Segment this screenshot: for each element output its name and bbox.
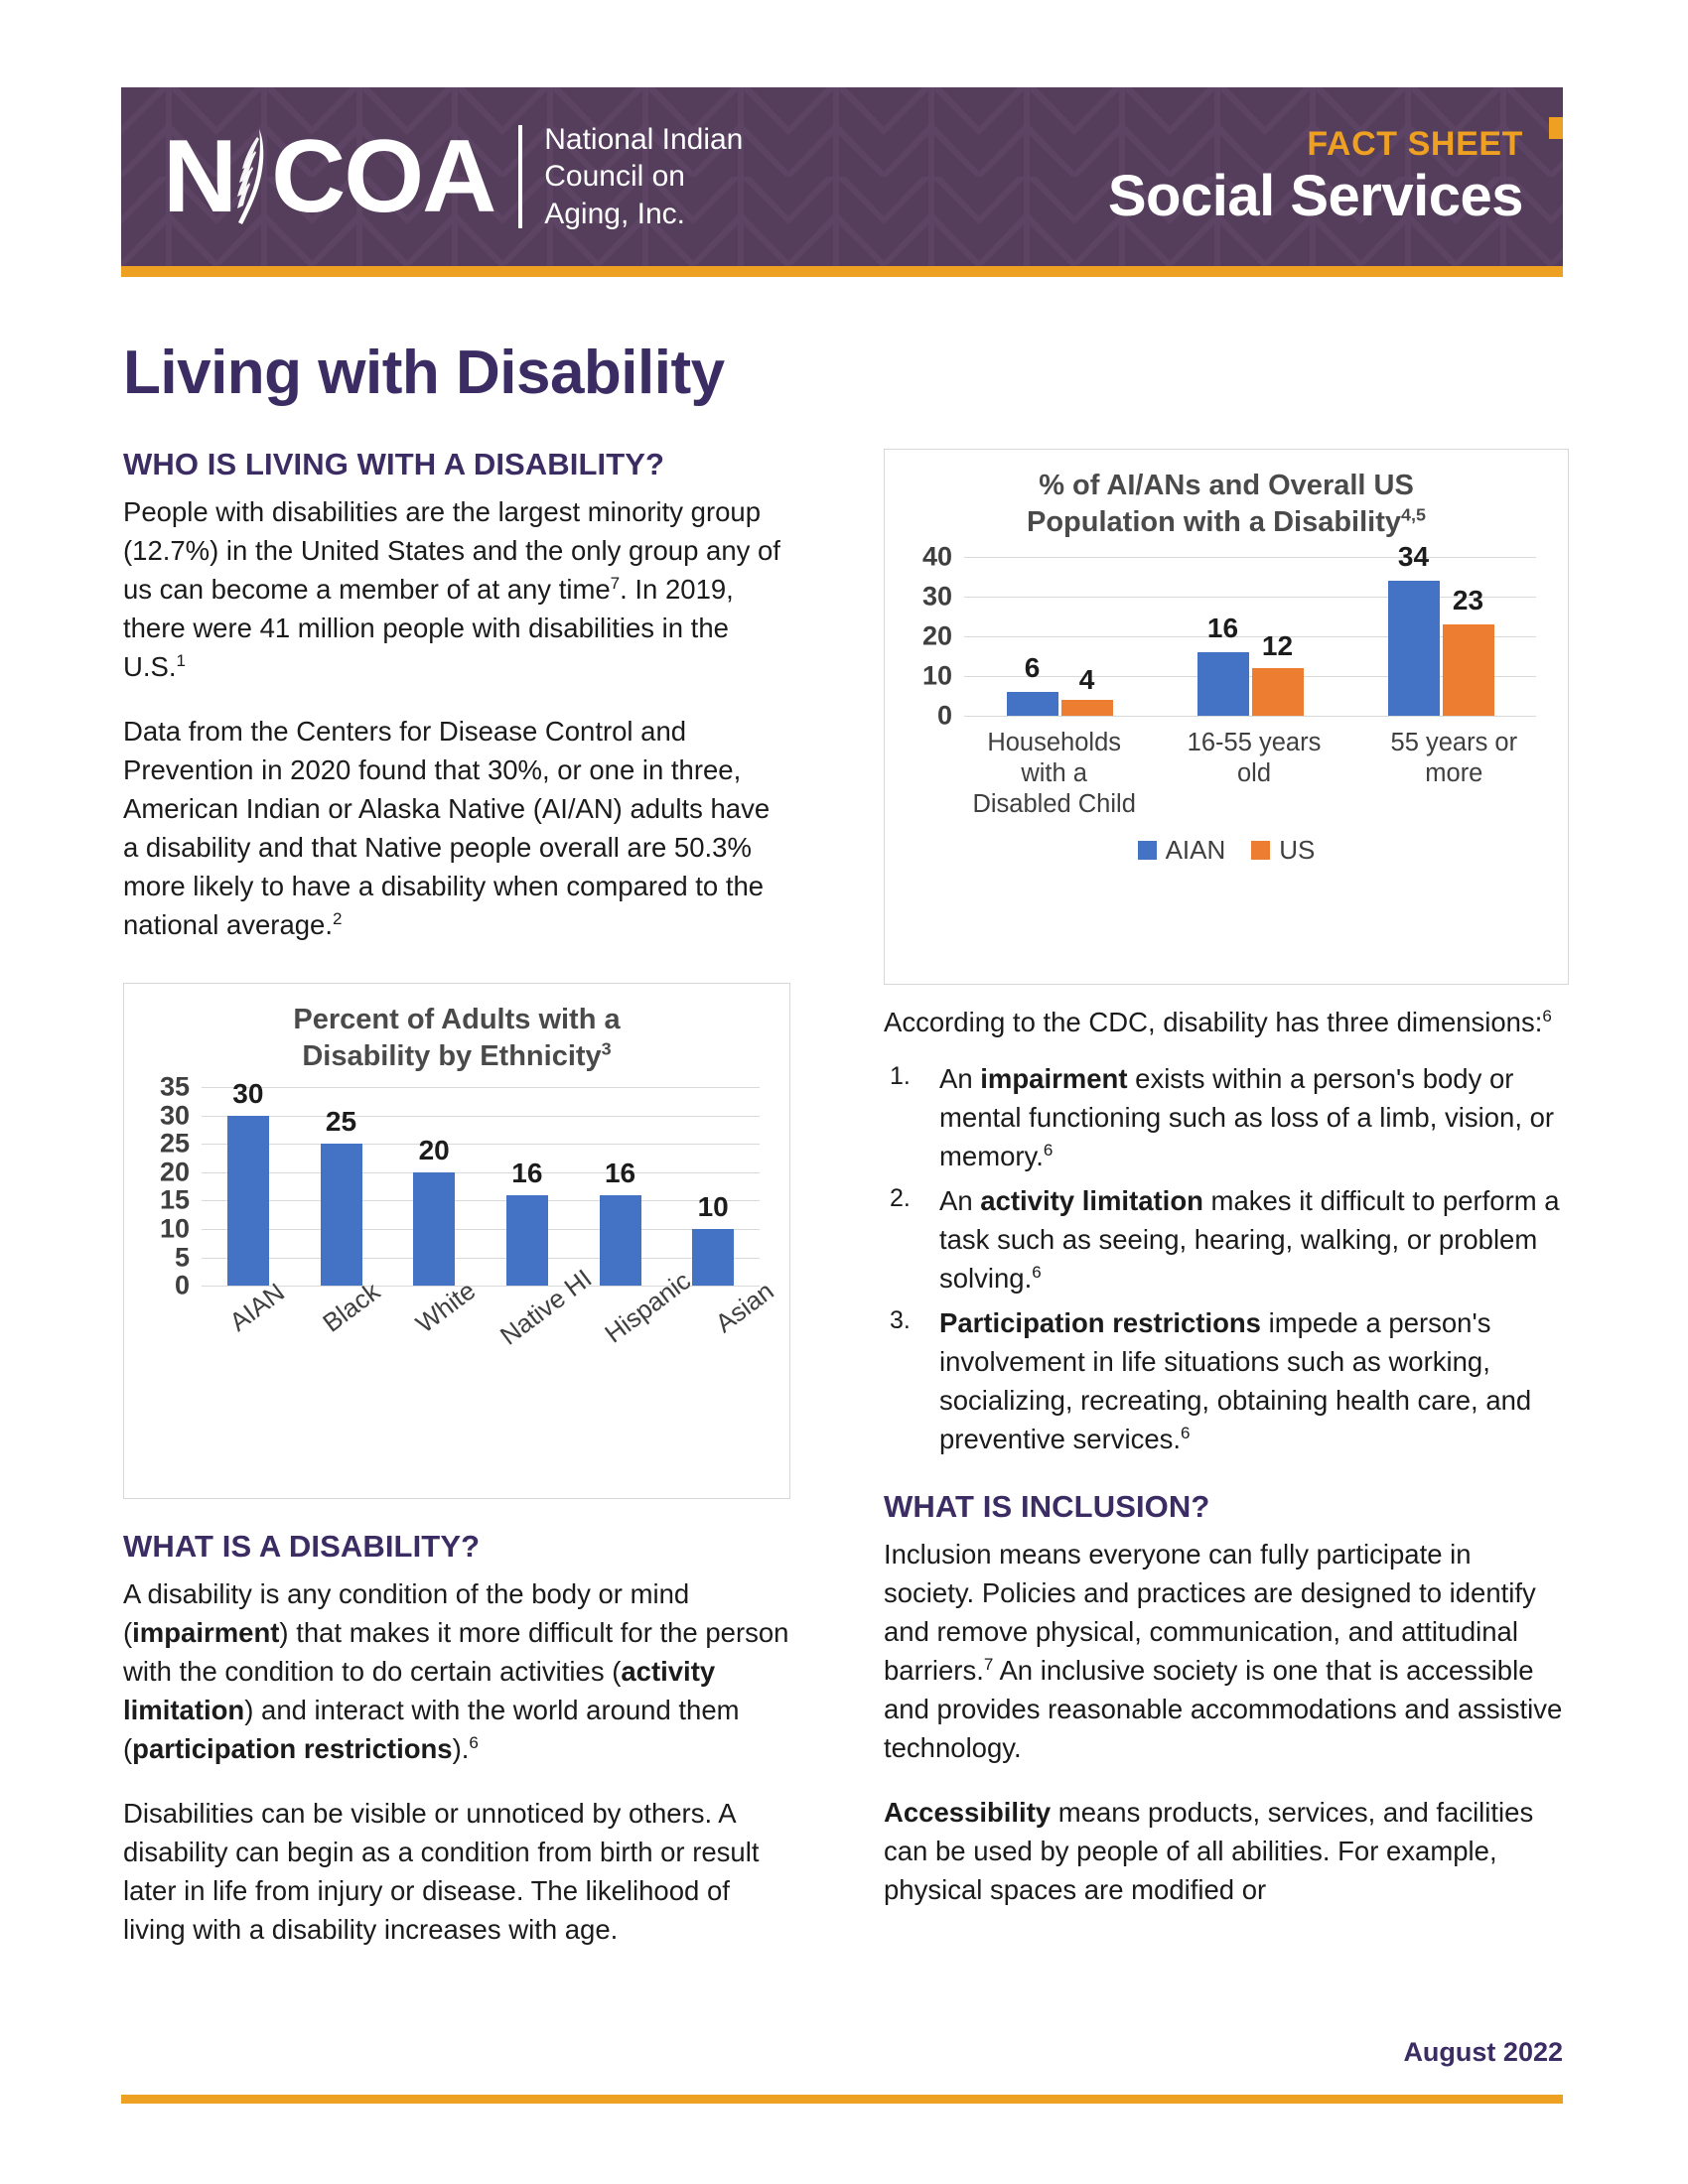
bar-value-label: 25 [326,1106,356,1138]
chart1-legend: AIAN US [885,821,1568,866]
legend-swatch-us [1251,841,1270,860]
legend-label: US [1279,835,1315,866]
bar-us-55plus: 23 [1443,624,1494,716]
x-tick-line: more [1425,759,1482,787]
bar-us-households: 4 [1061,700,1113,716]
bar-group-16-55: 16 12 [1155,557,1345,716]
y-tick: 15 [160,1185,190,1216]
x-tick-label: 16-55 years old [1154,716,1353,820]
bar-white: 20 [413,1172,455,1286]
left-column-lower: WHAT IS A DISABILITY? A disability is an… [123,1529,790,1949]
footnote-ref: 2 [333,909,342,928]
header-accent-tab [1549,117,1563,139]
fact-sheet-kicker: FACT SHEET [1108,126,1523,163]
bar-black: 25 [321,1144,362,1286]
bar-value-label: 16 [605,1158,635,1189]
bar-value-label: 16 [511,1158,542,1189]
legend-item-aian: AIAN [1138,835,1226,866]
y-tick: 35 [160,1072,190,1103]
left-column: WHO IS LIVING WITH A DISABILITY? People … [123,447,790,945]
footnote-ref: 6 [469,1733,478,1752]
footer-date: August 2022 [1403,2037,1563,2068]
bar-value-label: 10 [698,1191,729,1223]
chart1-title-footnote: 4,5 [1401,504,1426,524]
x-tick-line: Disabled Child [972,790,1135,818]
x-tick-line: old [1237,759,1271,787]
footnote-ref: 6 [1044,1141,1053,1160]
right-column: According to the CDC, disability has thr… [884,1003,1569,1909]
footnote-ref: 1 [176,651,185,670]
bar-aian-55plus: 34 [1388,581,1440,716]
y-tick: 40 [922,542,952,573]
y-tick: 30 [922,582,952,613]
bar-value-label: 34 [1398,541,1429,573]
footnote-ref: 6 [1032,1263,1041,1282]
chart2-plot: 35 30 25 20 15 10 5 0 30 25 20 16 16 10 [132,1087,774,1286]
chart1-title: % of AI/ANs and Overall US Population wi… [885,450,1568,547]
x-tick-line: 16-55 years [1188,729,1322,756]
footnote-ref: 7 [611,574,620,593]
paragraph-inclusion: Inclusion means everyone can fully parti… [884,1535,1569,1767]
footnote-ref: 6 [1542,1007,1551,1025]
legend-label: AIAN [1166,835,1226,866]
term-participation-restrictions: participation restrictions [132,1733,452,1764]
page-title: Living with Disability [123,338,725,408]
list-item-activity-limitation: An activity limitation makes it difficul… [884,1181,1569,1297]
term-participation-restrictions: Participation restrictions [939,1307,1261,1338]
y-tick: 25 [160,1129,190,1160]
nicoa-logo: N COA [163,121,743,232]
bar-group: 10 [666,1087,760,1286]
x-tick-line: 55 years or [1391,729,1518,756]
text-run: According to the CDC, disability has thr… [884,1007,1542,1037]
fact-sheet-page: N COA [0,0,1688,2184]
chart2-title-footnote: 3 [602,1038,612,1058]
footnote-ref: 7 [984,1655,993,1674]
footnote-ref: 6 [1181,1424,1190,1442]
bar-group: 16 [574,1087,667,1286]
y-tick: 0 [175,1271,190,1301]
chart2-x-axis: AIAN Black White Native HI Hispanic Asia… [124,1286,789,1405]
bar-aian-16-55: 16 [1197,652,1249,716]
bar-aian-households: 6 [1007,692,1058,716]
fact-sheet-title: Social Services [1108,167,1523,227]
x-tick-label: 55 years or more [1354,716,1554,820]
paragraph-accessibility: Accessibility means products, services, … [884,1793,1569,1909]
text-run: An [939,1063,980,1094]
list-item-impairment: An impairment exists within a person's b… [884,1059,1569,1175]
bar-group: 30 [202,1087,295,1286]
text-run: ). [453,1733,470,1764]
chart1-x-axis: Households with a Disabled Child 16-55 y… [954,716,1554,820]
bar-value-label: 4 [1079,664,1095,696]
y-tick: 30 [160,1100,190,1131]
legend-item-us: US [1251,835,1315,866]
logo-letters-coa: COA [271,125,494,228]
chart1-title-line2: Population with a Disability [1027,506,1401,538]
list-item-participation-restrictions: Participation restrictions impede a pers… [884,1303,1569,1458]
y-tick: 10 [922,661,952,692]
bar-value-label: 23 [1453,585,1483,616]
bar-value-label: 6 [1025,652,1041,684]
y-tick: 20 [160,1158,190,1188]
y-tick: 5 [175,1242,190,1273]
chart2-y-axis: 35 30 25 20 15 10 5 0 [132,1087,194,1286]
paragraph-visible-unnoticed: Disabilities can be visible or unnoticed… [123,1794,790,1949]
list-disability-dimensions: An impairment exists within a person's b… [884,1059,1569,1458]
bar-value-label: 20 [419,1135,450,1166]
chart2-title-line1: Percent of Adults with a [293,1004,620,1035]
paragraph-disability-definition: A disability is any condition of the bod… [123,1574,790,1768]
term-impairment: impairment [132,1617,279,1648]
bar-value-label: 16 [1207,613,1238,644]
x-tick-line: with a [1021,759,1087,787]
term-accessibility: Accessibility [884,1797,1051,1828]
page-header: N COA [121,87,1563,266]
heading-who-is-living: WHO IS LIVING WITH A DISABILITY? [123,447,790,482]
chart1-plot: 40 30 20 10 0 6 4 [895,557,1550,716]
chart1-y-axis: 40 30 20 10 0 [895,557,956,716]
bar-group: 25 [295,1087,388,1286]
paragraph-cdc-data: Data from the Centers for Disease Contro… [123,712,790,944]
header-accent-rule [121,266,1563,277]
term-activity-limitation: activity limitation [980,1185,1203,1216]
organization-name: National Indian Council on Aging, Inc. [544,121,743,232]
text-run: An [939,1185,980,1216]
bar-value-label: 12 [1262,630,1293,662]
paragraph-minority-group: People with disabilities are the largest… [123,492,790,686]
term-impairment: impairment [980,1063,1127,1094]
bar-native-hi: 16 [506,1195,548,1286]
chart2-title: Percent of Adults with a Disability by E… [124,984,789,1081]
header-title-block: FACT SHEET Social Services [1108,126,1527,227]
y-tick: 20 [922,621,952,652]
paragraph-cdc-dimensions: According to the CDC, disability has thr… [884,1003,1569,1041]
bar-group-55plus: 34 23 [1345,557,1536,716]
bar-aian: 30 [227,1116,269,1286]
heading-what-is-inclusion: WHAT IS INCLUSION? [884,1489,1569,1525]
y-tick: 10 [160,1214,190,1245]
y-tick: 0 [937,701,952,732]
legend-swatch-aian [1138,841,1157,860]
x-tick-label: Households with a Disabled Child [954,716,1154,820]
footer-accent-rule [121,2095,1563,2104]
bar-us-16-55: 12 [1252,668,1304,716]
chart2-title-line2: Disability by Ethnicity [302,1040,601,1072]
chart-disability-by-ethnicity: Percent of Adults with a Disability by E… [123,983,790,1499]
bar-asian: 10 [692,1229,734,1286]
logo-divider [518,125,522,228]
bar-value-label: 30 [232,1078,263,1110]
feather-icon [229,125,275,228]
chart1-title-line1: % of AI/ANs and Overall US [1039,470,1414,501]
text-run: Data from the Centers for Disease Contro… [123,716,770,940]
chart-aian-vs-us-disability: % of AI/ANs and Overall US Population wi… [884,449,1569,985]
bar-group: 16 [481,1087,574,1286]
x-tick-line: Households [987,729,1121,756]
logo-letter-n: N [163,125,235,228]
heading-what-is-disability: WHAT IS A DISABILITY? [123,1529,790,1565]
chart1-bars: 6 4 16 12 34 [964,557,1536,716]
logo-wordmark: N COA [163,125,494,228]
bar-hispanic: 16 [600,1195,641,1286]
bar-group-households: 6 4 [964,557,1155,716]
chart2-bars: 30 25 20 16 16 10 [202,1087,760,1286]
